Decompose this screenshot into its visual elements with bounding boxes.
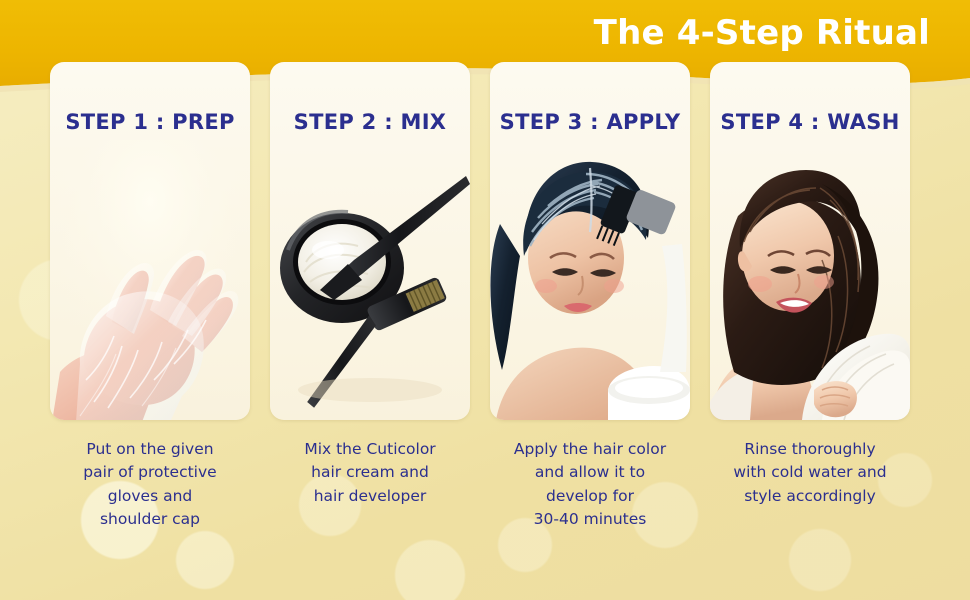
mixing-bowl-and-brush-photo	[270, 140, 470, 420]
step-caption-3: Apply the hair color and allow it to dev…	[490, 438, 690, 531]
gloved-hand-photo	[50, 140, 250, 420]
page-title: The 4-Step Ritual	[594, 16, 930, 50]
step-title-1: STEP 1 : PREP	[50, 110, 250, 134]
bowl-and-brush-illustration	[270, 140, 470, 420]
step-card-4[interactable]: STEP 4 : WASH	[710, 62, 910, 420]
four-step-ritual-infographic: The 4-Step Ritual STEP 1 : PREP	[0, 0, 970, 600]
step-caption-4: Rinse thoroughly with cold water and sty…	[710, 438, 910, 531]
towel-dry-illustration	[710, 140, 910, 420]
step-captions-row: Put on the given pair of protective glov…	[50, 438, 920, 531]
step-card-1[interactable]: STEP 1 : PREP	[50, 62, 250, 420]
towel-drying-hair-photo	[710, 140, 910, 420]
step-title-3: STEP 3 : APPLY	[490, 110, 690, 134]
step-card-2[interactable]: STEP 2 : MIX	[270, 62, 470, 420]
applying-color-photo	[490, 140, 690, 420]
step-title-4: STEP 4 : WASH	[710, 110, 910, 134]
step-title-2: STEP 2 : MIX	[270, 110, 470, 134]
gloved-hand-illustration	[50, 140, 250, 420]
step-card-3[interactable]: STEP 3 : APPLY	[490, 62, 690, 420]
hair-color-application-illustration	[490, 140, 690, 420]
step-caption-1: Put on the given pair of protective glov…	[50, 438, 250, 531]
step-caption-2: Mix the Cuticolor hair cream and hair de…	[270, 438, 470, 531]
steps-card-row: STEP 1 : PREP	[50, 62, 920, 422]
